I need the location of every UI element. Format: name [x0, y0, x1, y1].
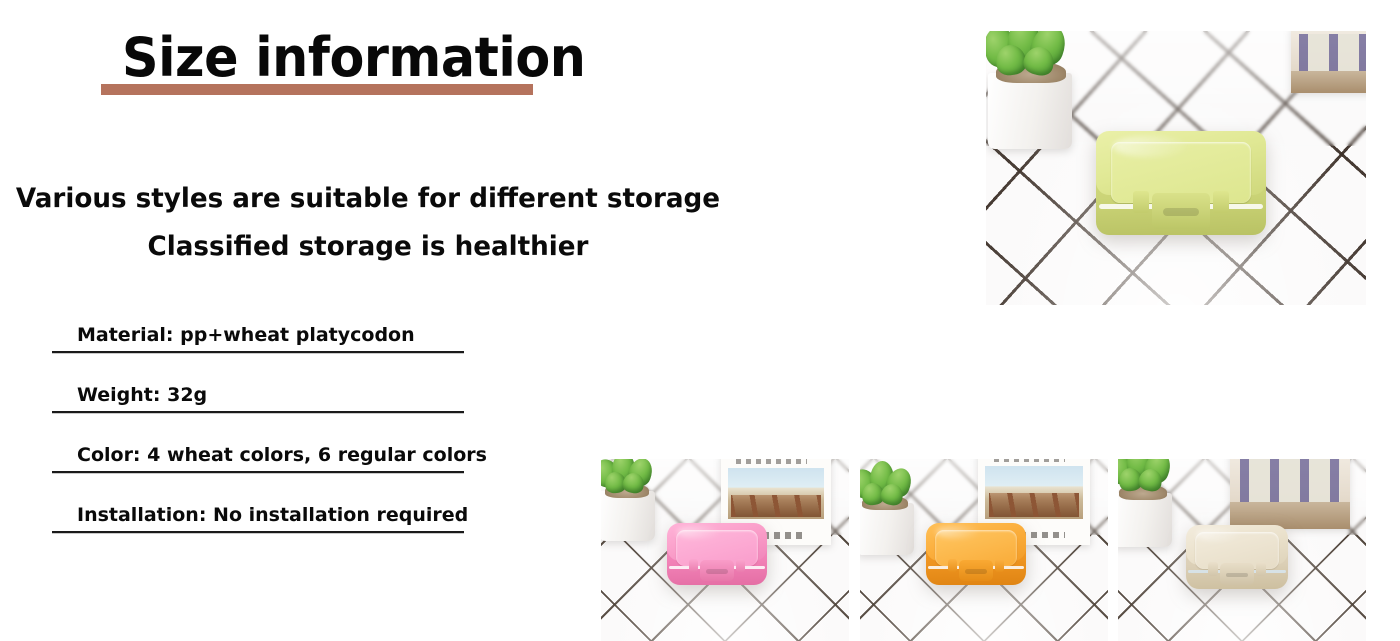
box-latch — [959, 560, 993, 581]
box-latch-slot — [706, 569, 727, 574]
thumbnail-wheat[interactable] — [1118, 459, 1366, 641]
box-latch — [1220, 563, 1255, 585]
spec-label-material: Material: pp+wheat platycodon — [77, 322, 415, 348]
spec-label-color: Color: 4 wheat colors, 6 regular colors — [77, 442, 487, 468]
box-hinge-tab-right — [1213, 191, 1228, 213]
box-latch — [700, 560, 734, 581]
spec-item-color: Color: 4 wheat colors, 6 regular colors — [52, 438, 464, 498]
postcard-top-text — [994, 459, 1066, 462]
specification-list: Material: pp+wheat platycodon Weight: 32… — [52, 318, 464, 558]
box-hinge-tab-right — [736, 559, 745, 572]
box-highlight — [1113, 136, 1188, 157]
spec-item-weight: Weight: 32g — [52, 378, 464, 438]
potted-succulent — [601, 459, 659, 545]
potted-succulent — [860, 467, 918, 557]
window-print-prop — [1230, 459, 1350, 529]
postcard-railing — [989, 493, 1080, 516]
window-panes — [1240, 459, 1341, 507]
box-latch-slot — [1163, 208, 1199, 216]
title-underline-bar — [101, 84, 533, 95]
subtitle-line-1: Various styles are suitable for differen… — [11, 175, 725, 223]
window-panes — [1299, 34, 1366, 75]
box-hinge-tab-left — [948, 559, 957, 572]
spec-label-installation: Installation: No installation required — [77, 502, 468, 528]
plant-pot — [601, 491, 655, 541]
spec-rule-weight — [52, 411, 464, 414]
thumbnail-orange[interactable] — [860, 459, 1108, 641]
subtitle-line-2: Classified storage is healthier — [11, 223, 725, 271]
box-hinge-tab-left — [1208, 562, 1217, 575]
box-latch — [1152, 193, 1210, 228]
box-latch-slot — [965, 569, 986, 574]
box-hinge-tab-left — [689, 559, 698, 572]
spec-rule-installation — [52, 531, 464, 534]
postcard-top-text — [736, 459, 806, 464]
window-floor — [1291, 71, 1366, 93]
spec-item-installation: Installation: No installation required — [52, 498, 464, 558]
postcard-railing — [731, 495, 820, 518]
spec-rule-color — [52, 471, 464, 474]
plant-pot — [1118, 493, 1172, 547]
postcard-image — [985, 466, 1084, 519]
potted-succulent — [986, 31, 1078, 157]
box-hinge-tab-right — [995, 559, 1004, 572]
box-hinge-tab-left — [1133, 191, 1148, 213]
spec-label-weight: Weight: 32g — [77, 382, 207, 408]
postcard-image — [728, 468, 825, 520]
thumbnail-pink[interactable] — [601, 459, 849, 641]
product-pill-box — [926, 523, 1026, 585]
box-latch-slot — [1226, 573, 1247, 578]
window-print-prop — [1291, 31, 1366, 93]
potted-succulent — [1118, 459, 1178, 549]
subtitle-block: Various styles are suitable for differen… — [0, 175, 736, 271]
product-pill-box — [667, 523, 767, 585]
page-title-block: Size information — [101, 26, 561, 101]
hero-product-photo — [986, 31, 1366, 305]
page-title: Size information — [122, 26, 585, 90]
product-pill-box — [1186, 525, 1288, 589]
product-pill-box — [1096, 131, 1266, 235]
plant-pot — [988, 73, 1072, 149]
box-hinge-tab-right — [1256, 562, 1265, 575]
spec-item-material: Material: pp+wheat platycodon — [52, 318, 464, 378]
spec-rule-material — [52, 351, 464, 354]
plant-pot — [860, 503, 914, 555]
box-highlight — [1196, 528, 1241, 541]
